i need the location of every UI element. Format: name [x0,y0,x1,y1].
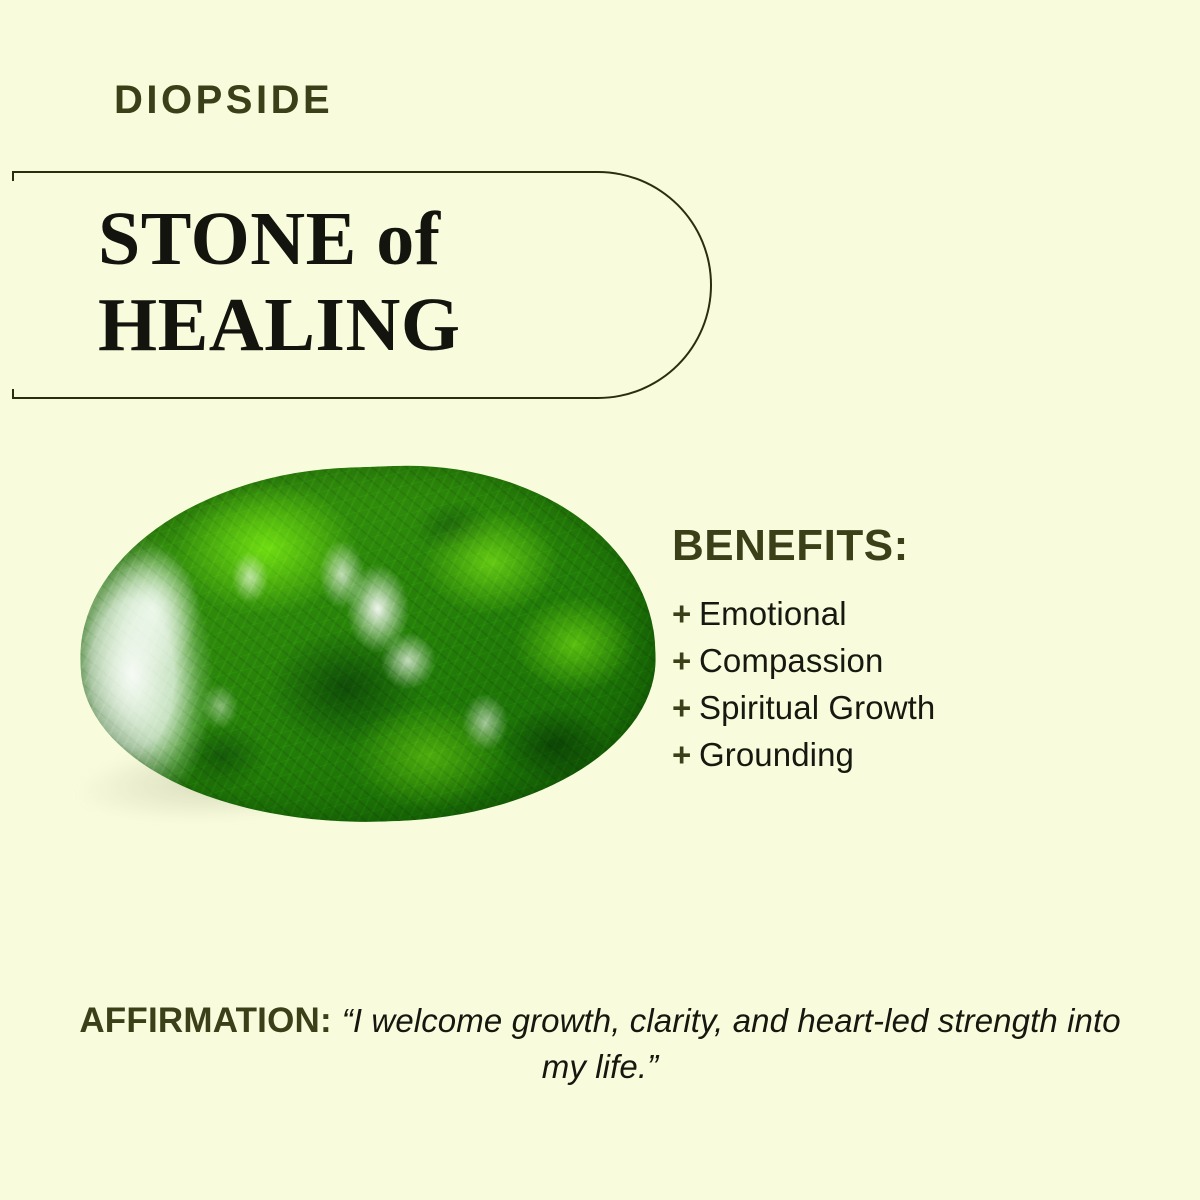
plus-icon: + [672,688,699,728]
affirmation-quote: “I welcome growth, clarity, and heart-le… [342,1002,1121,1085]
affirmation-section: AFFIRMATION: “I welcome growth, clarity,… [0,998,1200,1090]
list-item: + Spiritual Growth [672,688,1142,728]
benefit-label: Spiritual Growth [699,688,935,728]
benefit-label: Grounding [699,735,854,775]
affirmation-label: AFFIRMATION: [79,1001,341,1040]
list-item: + Compassion [672,641,1142,681]
benefit-label: Emotional [699,594,847,634]
headline-line-2: HEALING [98,282,658,368]
headline-line-1: STONE of [98,197,441,281]
plus-icon: + [672,594,699,634]
benefits-section: BENEFITS: + Emotional + Compassion + Spi… [672,524,1142,782]
gemstone-photo [60,455,670,875]
stone-category-label: DIOPSIDE [114,80,333,120]
affirmation-text-block: AFFIRMATION: “I welcome growth, clarity,… [79,1019,1120,1082]
benefits-heading: BENEFITS: [672,524,1142,568]
plus-icon: + [672,735,699,775]
benefit-label: Compassion [699,641,883,681]
stone-info-card: DIOPSIDE STONE of HEALING BENEFITS: + Em… [0,0,1200,1200]
list-item: + Grounding [672,735,1142,775]
plus-icon: + [672,641,699,681]
list-item: + Emotional [672,594,1142,634]
page-title: STONE of HEALING [98,196,658,368]
